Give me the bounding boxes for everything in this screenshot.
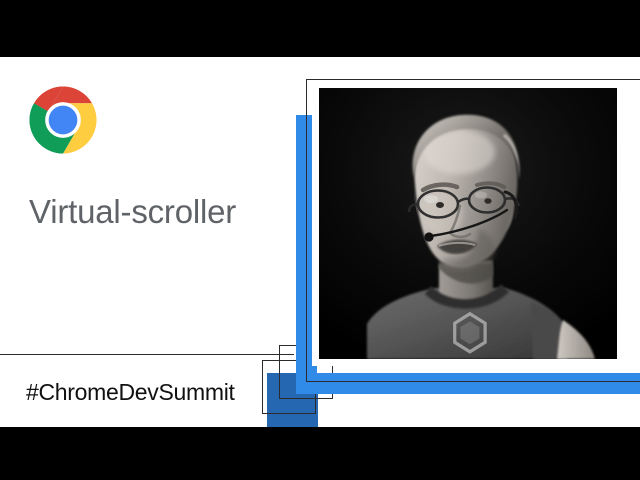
page-title: Virtual-scroller [29,193,236,231]
slide-frame: Virtual-scroller #ChromeDevSummit [0,0,640,480]
hashtag-divider [0,354,294,355]
chrome-logo [28,85,98,155]
slide-canvas: Virtual-scroller #ChromeDevSummit [0,57,640,427]
letterbox-top [0,0,640,57]
event-hashtag: #ChromeDevSummit [26,379,235,406]
speaker-photo-graphic [319,88,617,359]
letterbox-bottom [0,427,640,480]
speaker-photo [319,88,617,359]
